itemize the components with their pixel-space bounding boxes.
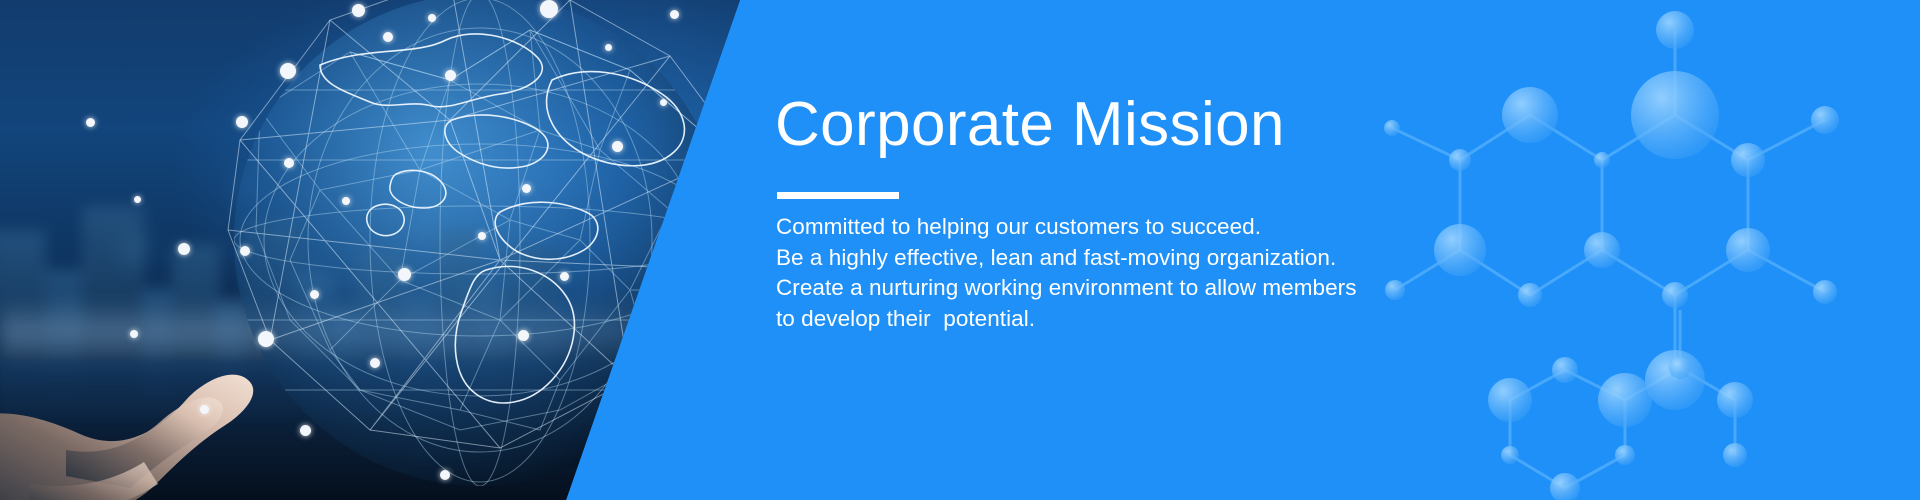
mission-line: to develop their potential. xyxy=(776,304,1376,335)
mission-line: Create a nurturing working environment t… xyxy=(776,273,1376,304)
title-divider xyxy=(777,192,899,199)
banner-content: Corporate Mission Committed to helping o… xyxy=(775,0,1775,500)
mission-line: Be a highly effective, lean and fast-mov… xyxy=(776,243,1376,274)
mission-statement: Committed to helping our customers to su… xyxy=(776,212,1376,334)
page-title: Corporate Mission xyxy=(775,92,1285,157)
corporate-mission-banner: Corporate Mission Committed to helping o… xyxy=(0,0,1920,500)
mission-line: Committed to helping our customers to su… xyxy=(776,212,1376,243)
